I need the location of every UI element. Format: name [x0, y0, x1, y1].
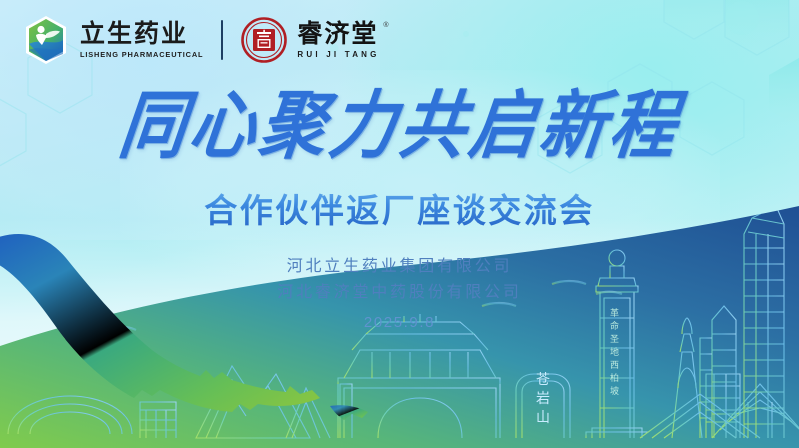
monument-char-6: 柏 [610, 372, 619, 383]
poster-canvas: 立生药业 LISHENG PHARMACEUTICAL [0, 0, 799, 448]
ruijitang-seal-logo [241, 17, 287, 63]
monument-char-3: 圣 [610, 334, 619, 344]
cangyan-label-char-3: 山 [536, 409, 550, 425]
cangyan-label-char-1: 苍 [536, 371, 550, 387]
cangyan-mountain-label: 苍 岩 山 [536, 371, 550, 425]
monument-char-4: 地 [610, 346, 619, 357]
registered-trademark-icon: ® [383, 22, 388, 29]
subtitle: 合作伙伴返厂座谈交流会 [0, 184, 799, 232]
lisheng-name-en: LISHENG PHARMACEUTICAL [80, 50, 203, 59]
main-title: 同心聚力共启新程 [0, 92, 799, 158]
monument-char-7: 坡 [610, 385, 619, 396]
brand-header: 立生药业 LISHENG PHARMACEUTICAL [22, 14, 380, 66]
lisheng-wordmark: 立生药业 LISHENG PHARMACEUTICAL [80, 21, 203, 59]
organizer-line-1: 河北立生药业集团有限公司 [0, 254, 799, 280]
ruijitang-name-cn: 睿济堂 [297, 21, 379, 47]
lisheng-hex-logo [22, 14, 70, 66]
ruijitang-wordmark: 睿济堂 RUI JI TANG ® [297, 21, 379, 59]
subtitle-text: 合作伙伴返厂座谈交流会 [204, 184, 595, 232]
organizer-line-2: 河北睿济堂中药股份有限公司 [0, 280, 799, 306]
monument-char-5: 西 [610, 360, 619, 370]
ruijitang-name-en: RUI JI TANG [297, 50, 379, 59]
main-title-part2: 共启新程 [395, 88, 684, 162]
organizer-block: 河北立生药业集团有限公司 河北睿济堂中药股份有限公司 [0, 254, 799, 306]
event-date: 2025.9.8 [0, 314, 799, 331]
main-title-part1: 同心聚力 [115, 88, 404, 162]
cangyan-label-char-2: 岩 [536, 390, 550, 406]
brand-divider [221, 20, 223, 60]
lisheng-name-cn: 立生药业 [80, 21, 203, 47]
